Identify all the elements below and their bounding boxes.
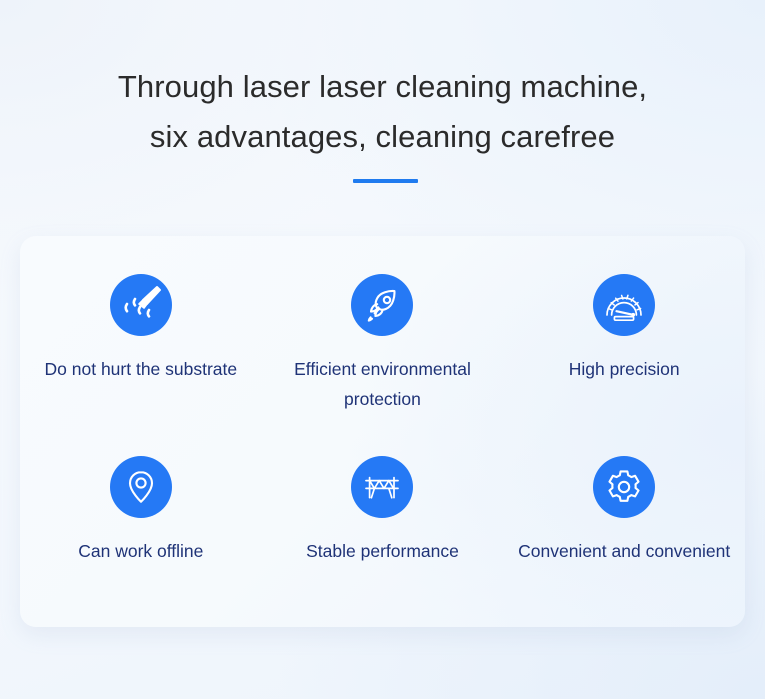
gear-icon <box>593 456 655 518</box>
speedometer-icon <box>593 274 655 336</box>
feature-label: Can work offline <box>78 536 203 566</box>
feature-label: High precision <box>569 354 680 384</box>
squeegee-clean-icon <box>110 274 172 336</box>
feature-item-can-work-offline[interactable]: Can work offline <box>20 432 262 628</box>
feature-label: Do not hurt the substrate <box>45 354 238 384</box>
heading-line-1: Through laser laser cleaning machine, <box>0 62 765 112</box>
feature-item-efficient-environmental-protection[interactable]: Efficient environmental protection <box>262 236 504 432</box>
feature-item-do-not-hurt-the-substrate[interactable]: Do not hurt the substrate <box>20 236 262 432</box>
feature-item-high-precision[interactable]: High precision <box>503 236 745 432</box>
heading-accent-bar <box>353 179 418 183</box>
feature-label: Stable performance <box>306 536 459 566</box>
feature-label: Efficient environmental protection <box>275 354 490 414</box>
features-card: Do not hurt the substrate Efficient envi… <box>20 236 745 627</box>
rocket-icon <box>351 274 413 336</box>
feature-item-stable-performance[interactable]: Stable performance <box>262 432 504 628</box>
feature-section-page: Through laser laser cleaning machine, si… <box>0 0 765 699</box>
feature-item-convenient-and-convenient[interactable]: Convenient and convenient <box>503 432 745 628</box>
map-pin-icon <box>110 456 172 518</box>
page-heading: Through laser laser cleaning machine, si… <box>0 62 765 162</box>
heading-line-2: six advantages, cleaning carefree <box>0 112 765 162</box>
feature-label: Convenient and convenient <box>518 536 730 566</box>
features-grid: Do not hurt the substrate Efficient envi… <box>20 236 745 627</box>
bridge-truss-icon <box>351 456 413 518</box>
